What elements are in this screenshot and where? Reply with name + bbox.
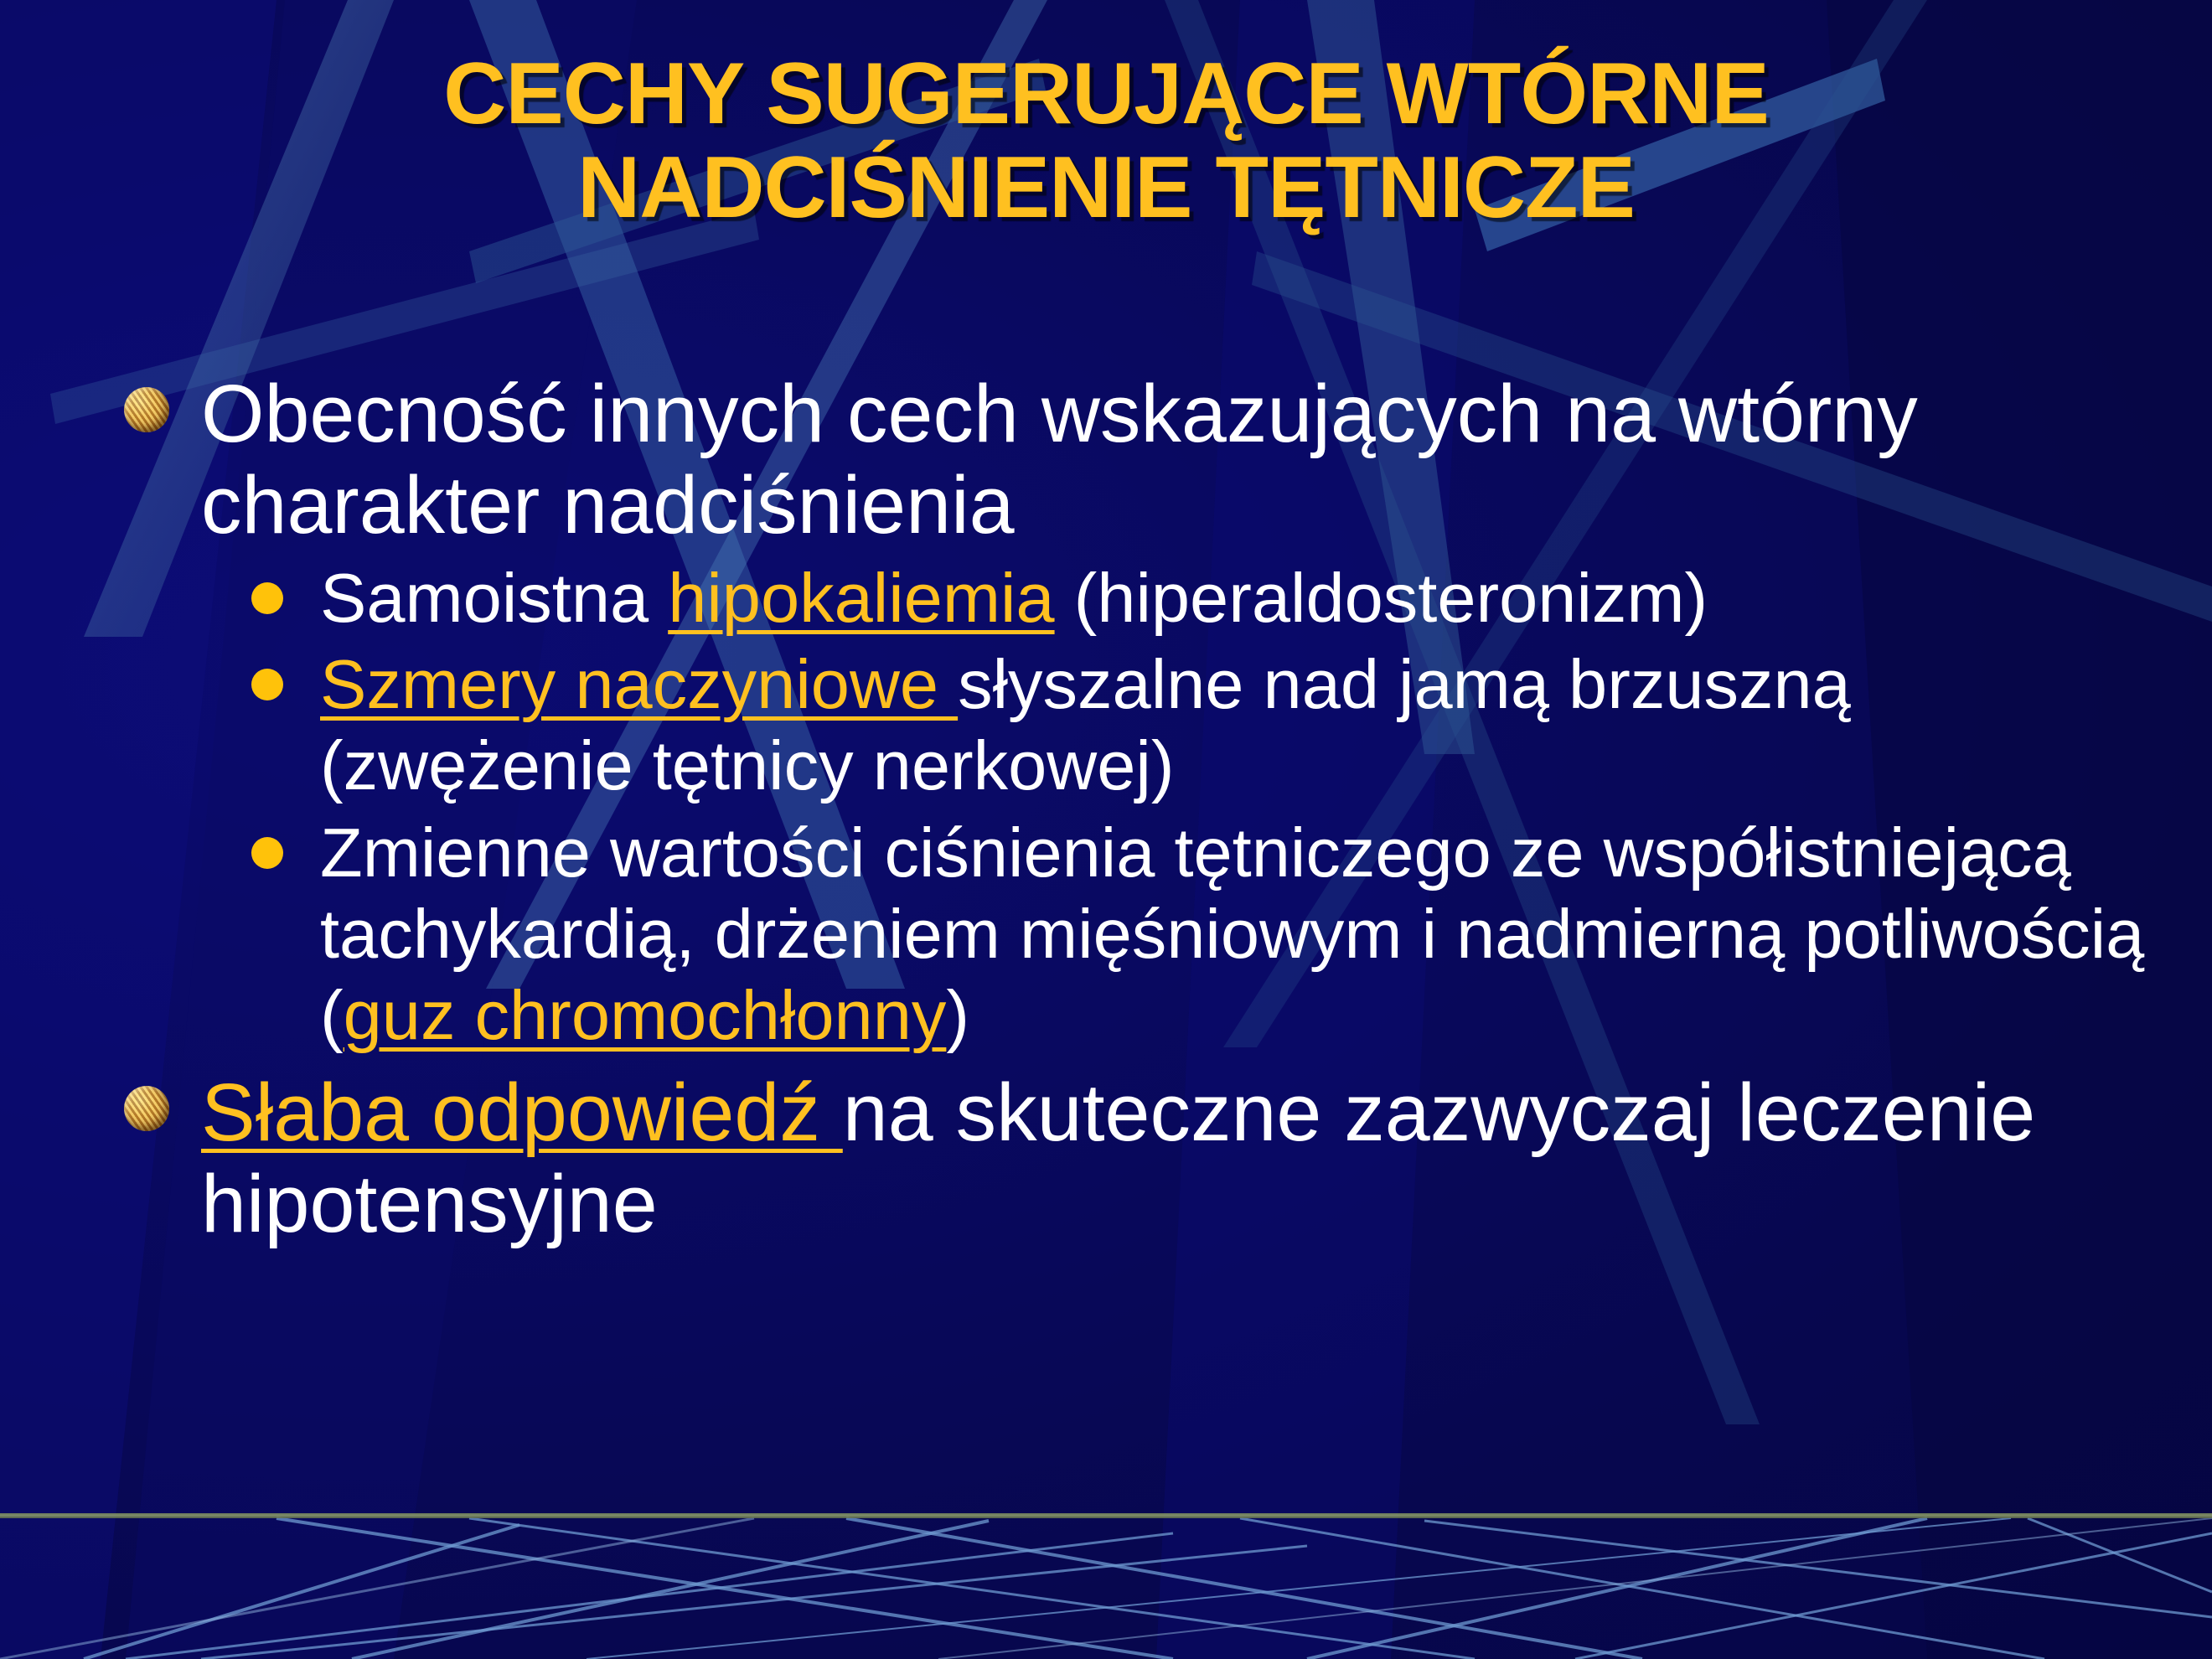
slide-title: CECHY SUGERUJĄCE WTÓRNE NADCIŚNIENIE TĘT… (0, 47, 2212, 235)
body-text: ) (946, 976, 969, 1054)
emphasis-text: guz chromochłonny (344, 976, 947, 1054)
bullet-sublist: Samoistna hipokaliemia (hiperaldosteroni… (0, 557, 2212, 1056)
emphasis-text: Szmery naczyniowe (320, 645, 958, 723)
bullet-level-1: Słaba odpowiedź na skuteczne zazwyczaj l… (0, 1067, 2212, 1249)
body-text: Obecność innych cech wskazujących na wtó… (201, 368, 1918, 550)
emphasis-text: Słaba odpowiedź (201, 1067, 843, 1158)
slide-body: Obecność innych cech wskazujących na wtó… (0, 369, 2212, 1254)
emphasis-text: hipokaliemia (668, 559, 1054, 637)
gold-sphere-bullet-icon (124, 387, 169, 432)
bullet-level-1: Obecność innych cech wskazujących na wtó… (0, 369, 2212, 550)
footer-divider (0, 1513, 2212, 1518)
gold-dot-bullet-icon (251, 582, 283, 614)
slide-title-line-2: NADCIŚNIENIE TĘTNICZE (0, 141, 2212, 235)
slide-title-line-1: CECHY SUGERUJĄCE WTÓRNE (0, 47, 2212, 141)
presentation-slide: CECHY SUGERUJĄCE WTÓRNE NADCIŚNIENIE TĘT… (0, 0, 2212, 1659)
bullet-level-2: Szmery naczyniowe słyszalne nad jamą brz… (0, 643, 2212, 806)
gold-dot-bullet-icon (251, 669, 283, 700)
gold-sphere-bullet-icon (124, 1086, 169, 1131)
body-text: (hiperaldosteronizm) (1055, 559, 1708, 637)
bullet-level-2: Zmienne wartości ciśnienia tętniczego ze… (0, 812, 2212, 1056)
body-text: Samoistna (320, 559, 668, 637)
gold-dot-bullet-icon (251, 837, 283, 869)
bullet-level-2: Samoistna hipokaliemia (hiperaldosteroni… (0, 557, 2212, 638)
